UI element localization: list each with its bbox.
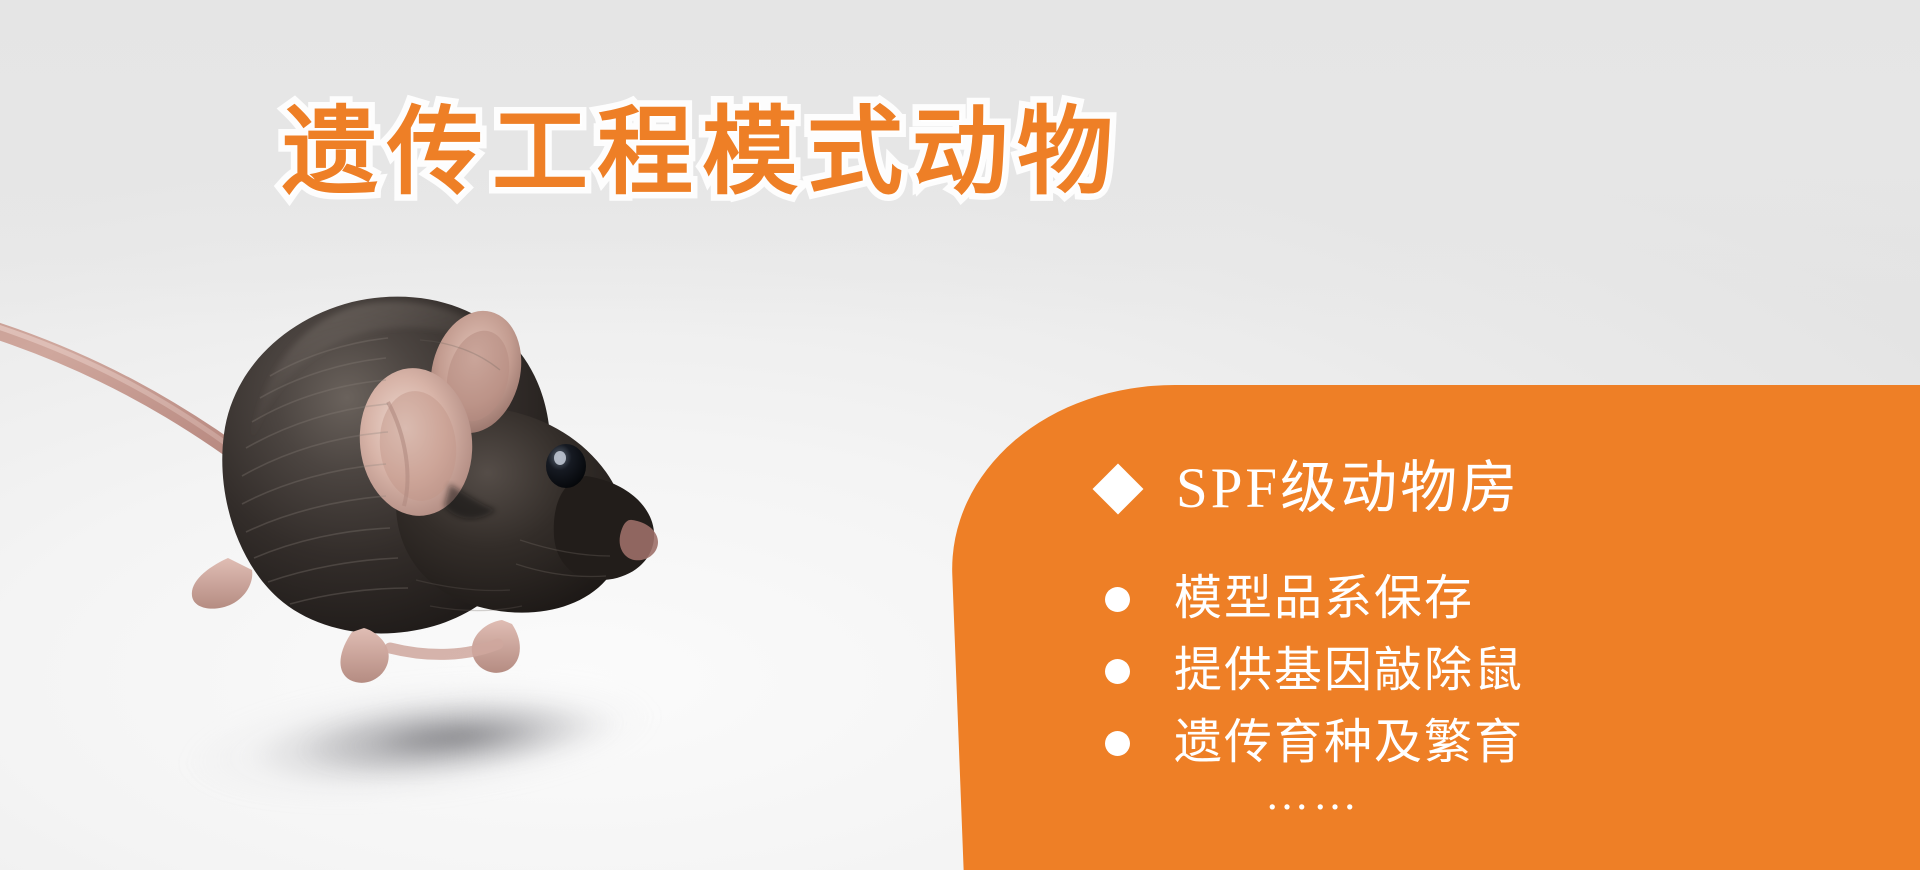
banner-title: 遗传工程模式动物	[282, 96, 1122, 209]
panel-heading-label: SPF级动物房	[1176, 460, 1520, 517]
list-item: 提供基因敲除鼠	[1105, 635, 1524, 707]
lab-mouse-image	[0, 250, 900, 870]
list-item: 模型品系保存	[1105, 563, 1524, 635]
more-indicator: ……	[1265, 773, 1361, 817]
mouse-body	[120, 280, 680, 710]
panel-heading: SPF级动物房	[1100, 460, 1520, 517]
list-item-label: 模型品系保存	[1174, 575, 1474, 623]
features-panel: SPF级动物房 模型品系保存 提供基因敲除鼠 遗传育种及繁育 ……	[945, 385, 1920, 870]
dot-icon	[1105, 587, 1130, 612]
dot-icon	[1105, 659, 1130, 684]
diamond-icon	[1093, 463, 1144, 514]
list-item: 遗传育种及繁育	[1105, 707, 1524, 779]
list-item-label: 提供基因敲除鼠	[1174, 647, 1524, 695]
feature-list: 模型品系保存 提供基因敲除鼠 遗传育种及繁育	[1105, 563, 1524, 779]
promo-banner: 遗传工程模式动物 SPF级动物房 模型品系保存 提供基因敲除鼠 遗传育种及繁育	[0, 0, 1920, 870]
dot-icon	[1105, 731, 1130, 756]
list-item-label: 遗传育种及繁育	[1174, 719, 1524, 767]
